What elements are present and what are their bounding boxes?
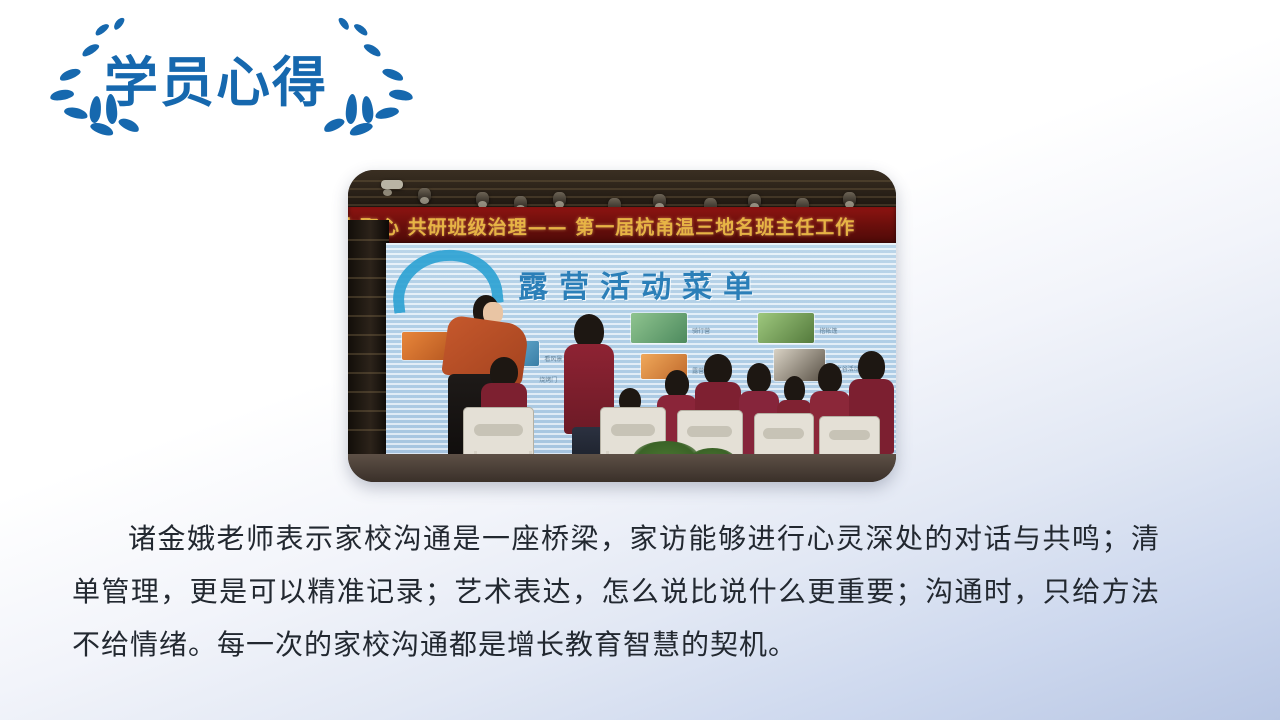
photo-inner: 力聚心 共研班级治理—— 第一届杭甬温三地名班主任工作 露营活动菜单 [348,170,896,482]
body-paragraph: 诸金娥老师表示家校沟通是一座桥梁，家访能够进行心灵深处的对话与共鸣；清单管理，更… [72,512,1160,671]
photo-banner-text: 力聚心 共研班级治理—— 第一届杭甬温三地名班主任工作 [348,213,855,240]
content-photo: 力聚心 共研班级治理—— 第一届杭甬温三地名班主任工作 露营活动菜单 [348,170,896,482]
led-caption: 看风景 [544,354,562,363]
slide-canvas: 学员心得 力聚心 共研班级治理—— 第 [0,0,1280,720]
photo-red-banner: 力聚心 共研班级治理—— 第一届杭甬温三地名班主任工作 [348,207,896,244]
photo-stage-floor [348,454,896,482]
page-title: 学员心得 [104,56,328,110]
led-thumbnail [631,313,687,343]
led-caption: 搭帐篷 [820,326,838,335]
led-caption: 骑行营 [692,326,710,335]
photo-side-wall [348,220,389,457]
slide-title-block: 学员心得 [24,8,424,153]
led-caption: 烧烤门 [539,375,557,384]
led-thumbnail [758,313,814,343]
